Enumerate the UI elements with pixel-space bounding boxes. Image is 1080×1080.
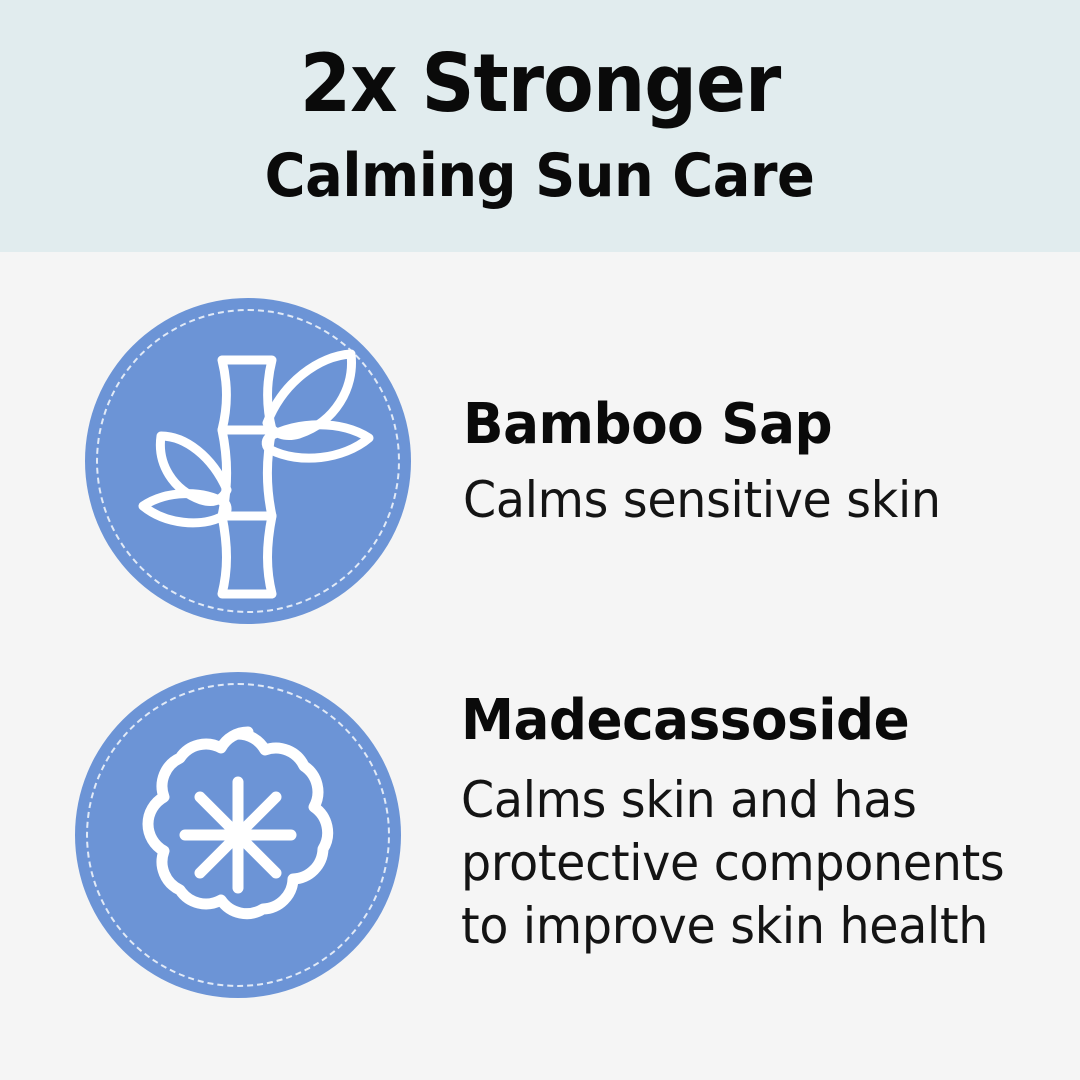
feature-list: Bamboo Sap Calms sensitive skin [0,252,1080,1080]
bamboo-stalk-icon [85,298,411,624]
feature-text-madecassoside: Madecassoside Calms skin and has protect… [461,692,1061,958]
flower-starburst-icon [75,672,401,998]
feature-title: Madecassoside [461,692,1031,751]
badge-bamboo-sap [85,298,411,624]
page-subtitle: Calming Sun Care [265,146,815,206]
badge-circle [75,672,401,998]
sun-care-infographic: 2x Stronger Calming Sun Care [0,0,1080,1080]
badge-madecassoside [75,672,401,998]
feature-description: Calms sensitive skin [463,469,941,532]
badge-circle [85,298,411,624]
feature-text-bamboo-sap: Bamboo Sap Calms sensitive skin [463,396,966,532]
feature-item-bamboo-sap: Bamboo Sap Calms sensitive skin [0,298,966,624]
feature-item-madecassoside: Madecassoside Calms skin and has protect… [0,672,1061,998]
header-band: 2x Stronger Calming Sun Care [0,0,1080,252]
page-title: 2x Stronger [300,44,781,124]
feature-description: Calms skin and has protective components… [461,769,1031,958]
feature-title: Bamboo Sap [463,396,941,455]
